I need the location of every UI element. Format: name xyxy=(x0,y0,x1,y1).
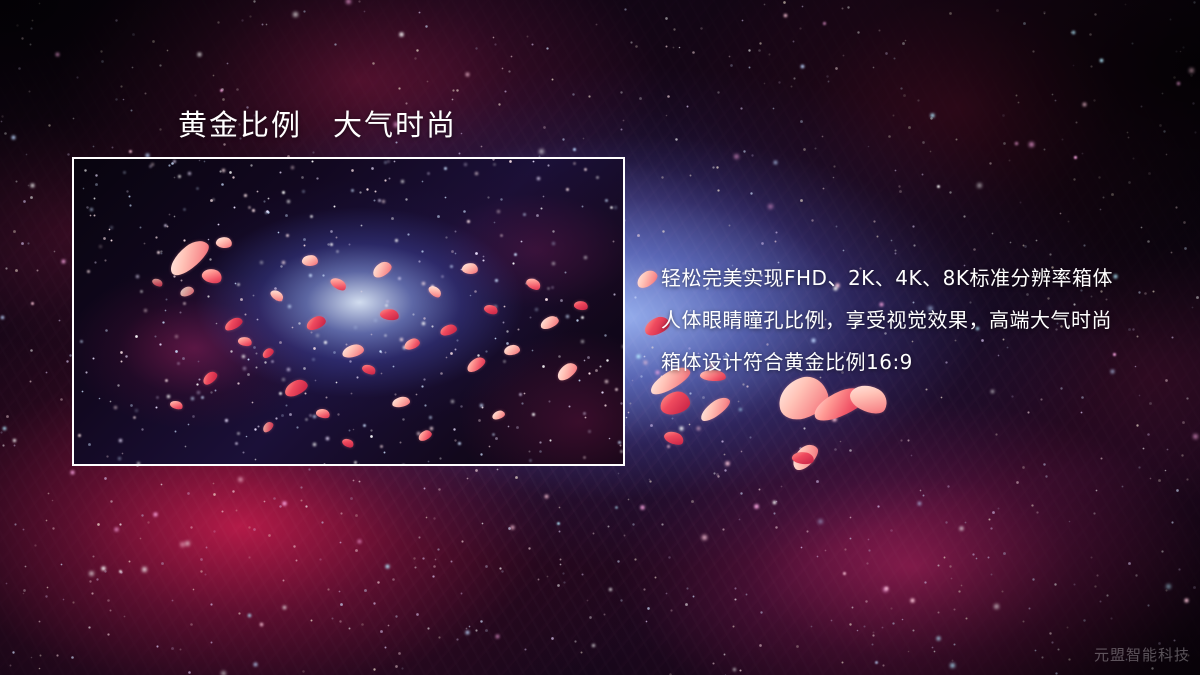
petal-shape xyxy=(223,315,244,332)
preview-image-panel[interactable] xyxy=(72,157,625,466)
petal-shape xyxy=(539,314,561,331)
petal-shape xyxy=(417,429,433,443)
petal-shape xyxy=(179,285,195,297)
petal-shape xyxy=(391,396,410,408)
petal-shape xyxy=(329,275,349,293)
petal-shape xyxy=(261,347,275,360)
petal-shape xyxy=(439,323,458,337)
starfield-panel xyxy=(74,159,75,160)
petal-shape xyxy=(370,259,394,280)
petal-shape xyxy=(169,399,184,411)
page-title: 黄金比例 大气时尚 xyxy=(178,102,457,144)
petal-shape xyxy=(261,420,275,434)
body-copy-line-2: 人体眼睛瞳孔比例，享受视觉效果，高端大气时尚 xyxy=(661,299,1181,341)
petal-shape xyxy=(524,276,542,293)
petal-shape xyxy=(658,390,691,417)
petal-shape xyxy=(483,303,499,317)
petal-shape xyxy=(341,437,355,450)
petal-shape xyxy=(201,369,220,386)
petal-shape xyxy=(465,355,488,375)
petal-shape xyxy=(151,277,164,289)
petal-shape xyxy=(504,344,521,356)
petal-shape xyxy=(361,362,378,376)
petal-shape xyxy=(573,299,589,311)
body-copy-line-1: 轻松完美实现FHD、2K、4K、8K标准分辨率箱体 xyxy=(661,257,1181,299)
petal-shape xyxy=(662,428,685,447)
petal-shape xyxy=(461,262,478,275)
petal-shape xyxy=(282,377,309,399)
petal-shape xyxy=(846,379,892,420)
petal-shape xyxy=(215,236,233,250)
presentation-slide: 黄金比例 大气时尚 轻松完美实现FHD、2K、4K、8K标准分辨率箱体 人体眼睛… xyxy=(0,0,1200,675)
petal-shape xyxy=(341,343,365,359)
petal-shape xyxy=(403,337,421,351)
petal-shape xyxy=(379,307,400,322)
petal-shape xyxy=(554,360,580,383)
petal-shape xyxy=(634,267,660,290)
petal-shape xyxy=(305,314,328,332)
body-copy-block: 轻松完美实现FHD、2K、4K、8K标准分辨率箱体 人体眼睛瞳孔比例，享受视觉效… xyxy=(661,257,1181,383)
watermark-label: 元盟智能科技 xyxy=(1094,644,1190,665)
petal-shape xyxy=(315,407,331,420)
petal-shape xyxy=(269,288,286,304)
petal-shape xyxy=(302,254,319,266)
body-copy-line-3: 箱体设计符合黄金比例16:9 xyxy=(661,341,1181,383)
petal-shape xyxy=(427,283,443,299)
petal-shape xyxy=(491,409,506,420)
panel-image-content xyxy=(74,159,623,464)
petal-shape xyxy=(200,266,224,286)
petal-shape xyxy=(697,394,733,425)
petal-shape xyxy=(237,335,253,347)
starfield-bright xyxy=(0,0,1,1)
